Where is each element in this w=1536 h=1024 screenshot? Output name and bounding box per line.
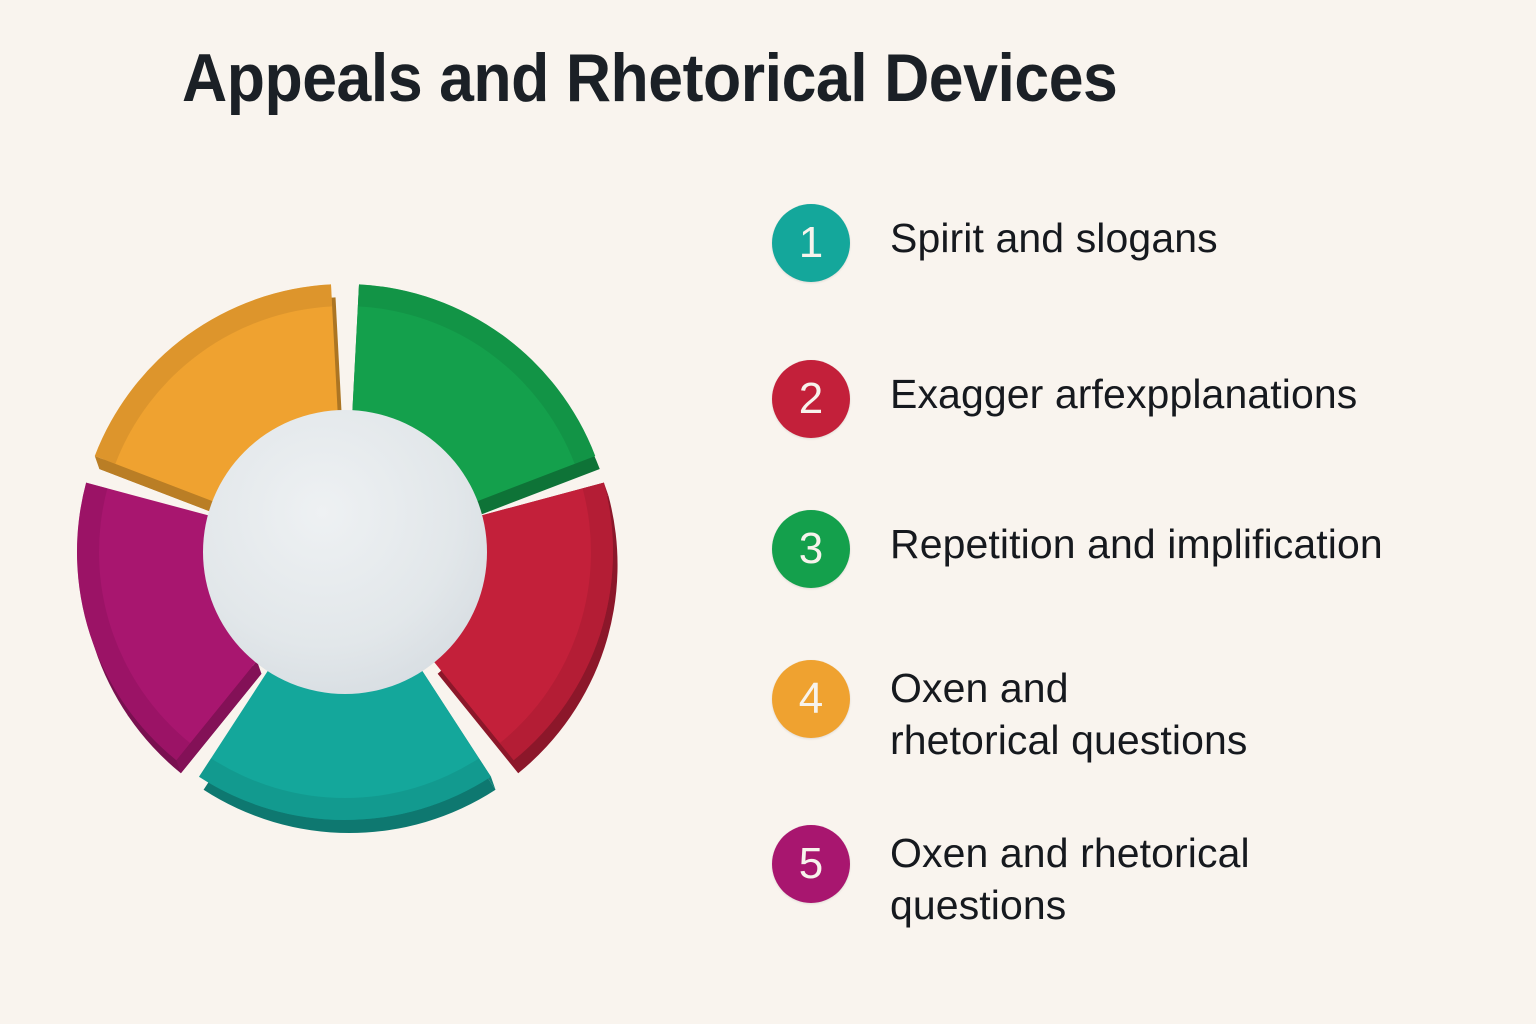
legend-number-badge: 3	[772, 510, 850, 588]
legend-item-3[interactable]: 3Repetition and implification	[772, 510, 1512, 588]
legend-item-label: Oxen and rhetorical questions	[890, 825, 1250, 931]
legend-item-label: Spirit and slogans	[890, 204, 1218, 264]
legend-number-badge: 2	[772, 360, 850, 438]
legend-item-label: Exagger arfexpplanations	[890, 360, 1357, 420]
legend-number-badge: 1	[772, 204, 850, 282]
legend-item-4[interactable]: 4Oxen and rhetorical questions	[772, 660, 1512, 766]
legend-item-label: Repetition and implification	[890, 510, 1383, 570]
legend-item-5[interactable]: 5Oxen and rhetorical questions	[772, 825, 1512, 931]
infographic-root: Appeals and Rhetorical Devices 1Spirit a…	[0, 0, 1536, 1024]
legend-item-2[interactable]: 2Exagger arfexpplanations	[772, 360, 1512, 438]
donut-chart	[40, 240, 660, 880]
page-title: Appeals and Rhetorical Devices	[182, 44, 1117, 113]
legend-number-badge: 4	[772, 660, 850, 738]
legend-number-badge: 5	[772, 825, 850, 903]
legend-item-1[interactable]: 1Spirit and slogans	[772, 204, 1512, 282]
donut-center-hub	[203, 410, 487, 694]
donut-chart-svg	[40, 240, 660, 880]
legend-item-label: Oxen and rhetorical questions	[890, 660, 1248, 766]
